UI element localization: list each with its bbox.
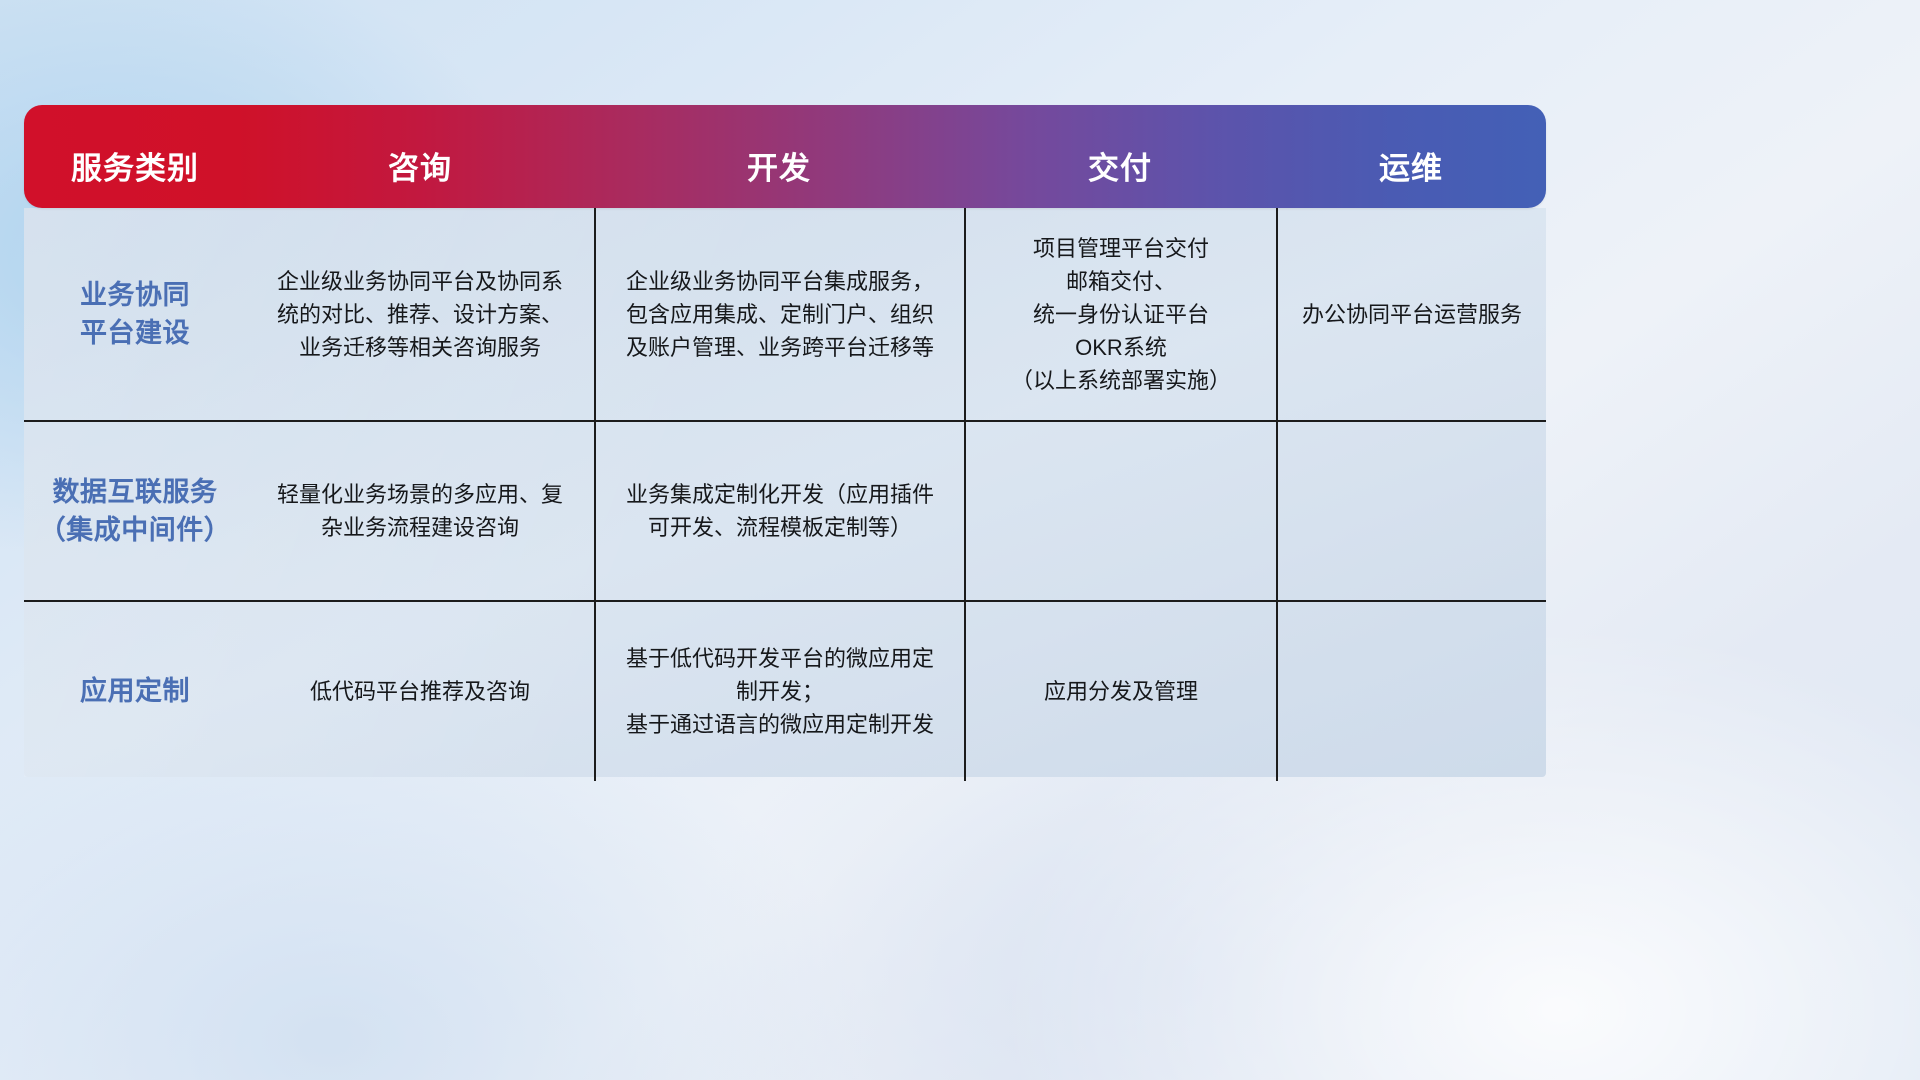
table-row: 数据互联服务 （集成中间件） 轻量化业务场景的多应用、复 杂业务流程建设咨询 业… [24, 422, 1546, 602]
cell-operations: 办公协同平台运营服务 [1276, 208, 1546, 420]
cell-consulting: 低代码平台推荐及咨询 [246, 602, 594, 781]
row-category-label: 数据互联服务 （集成中间件） [24, 422, 246, 600]
cell-development: 基于低代码开发平台的微应用定 制开发； 基于通过语言的微应用定制开发 [594, 602, 964, 781]
header-development: 开发 [594, 143, 964, 208]
cell-operations [1276, 422, 1546, 600]
table-rows: 业务协同 平台建设 企业级业务协同平台及协同系 统的对比、推荐、设计方案、 业务… [24, 208, 1546, 781]
cell-development: 业务集成定制化开发（应用插件 可开发、流程模板定制等） [594, 422, 964, 600]
cell-development: 企业级业务协同平台集成服务， 包含应用集成、定制门户、组织 及账户管理、业务跨平… [594, 208, 964, 420]
header-service-category: 服务类别 [24, 143, 246, 208]
table-row: 应用定制 低代码平台推荐及咨询 基于低代码开发平台的微应用定 制开发； 基于通过… [24, 602, 1546, 781]
cell-consulting: 轻量化业务场景的多应用、复 杂业务流程建设咨询 [246, 422, 594, 600]
cell-delivery: 应用分发及管理 [964, 602, 1276, 781]
row-category-label: 业务协同 平台建设 [24, 208, 246, 420]
cell-delivery [964, 422, 1276, 600]
table-header-row: 服务类别 咨询 开发 交付 运维 [24, 105, 1546, 208]
header-delivery: 交付 [964, 143, 1276, 208]
header-consulting: 咨询 [246, 143, 594, 208]
header-operations: 运维 [1276, 143, 1546, 208]
cell-operations [1276, 602, 1546, 781]
cell-consulting: 企业级业务协同平台及协同系 统的对比、推荐、设计方案、 业务迁移等相关咨询服务 [246, 208, 594, 420]
service-matrix-table: 服务类别 咨询 开发 交付 运维 业务协同 平台建设 企业级业务协同平台及协同系… [24, 105, 1546, 777]
row-category-label: 应用定制 [24, 602, 246, 781]
table-row: 业务协同 平台建设 企业级业务协同平台及协同系 统的对比、推荐、设计方案、 业务… [24, 208, 1546, 422]
cell-delivery: 项目管理平台交付 邮箱交付、 统一身份认证平台 OKR系统 （以上系统部署实施） [964, 208, 1276, 420]
